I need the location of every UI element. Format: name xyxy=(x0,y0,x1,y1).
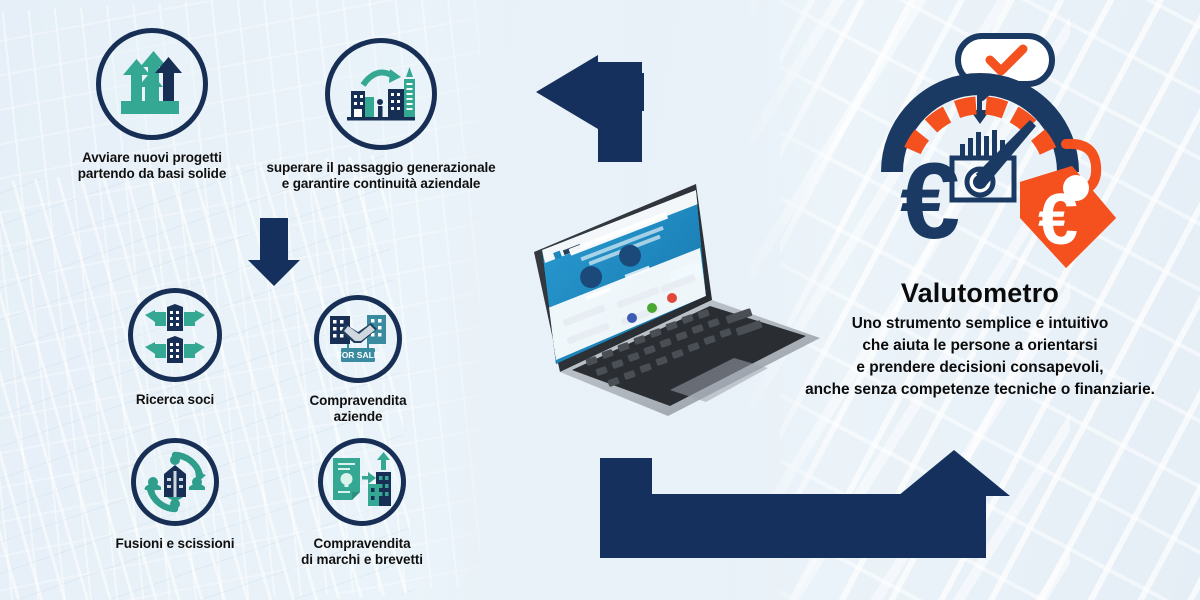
generational-handover-buildings-icon xyxy=(343,61,419,127)
node-caption: Compravendita di marchi e brevetti xyxy=(278,536,446,569)
node-caption: Avviare nuovi progetti partendo da basi … xyxy=(62,150,242,183)
icon-circle xyxy=(96,28,208,140)
connector-arrow-elbow-bottom xyxy=(600,448,1020,573)
icon-circle xyxy=(325,38,437,150)
node-avviare-progetti[interactable]: Avviare nuovi progetti partendo da basi … xyxy=(62,28,242,183)
valutometro-description: Uno strumento semplice e intuitivo che a… xyxy=(760,313,1200,401)
valutometro-hero-icon: € € xyxy=(860,22,1130,289)
patent-document-building-icon xyxy=(330,452,394,512)
infographic-canvas: Avviare nuovi progetti partendo da basi … xyxy=(0,0,1200,600)
node-compravendita-aziende[interactable]: FOR SALE Compravendita aziende xyxy=(278,295,438,426)
arrow-elbow-left-icon xyxy=(530,45,670,165)
node-caption: Ricerca soci xyxy=(95,392,255,408)
svg-text:FOR SALE: FOR SALE xyxy=(337,350,380,360)
node-passaggio-generazionale[interactable]: superare il passaggio generazionale e ga… xyxy=(256,38,506,193)
node-caption: superare il passaggio generazionale e ga… xyxy=(256,160,506,193)
valutometro-title: Valutometro xyxy=(760,278,1200,309)
icon-circle xyxy=(131,438,219,526)
handshake-for-sale-icon: FOR SALE xyxy=(327,310,389,368)
euro-symbol-tag: € xyxy=(1038,180,1078,260)
icon-circle: FOR SALE xyxy=(314,295,402,383)
icon-circle xyxy=(128,288,222,382)
node-caption: Fusioni e scissioni xyxy=(95,536,255,552)
icon-circle xyxy=(318,438,406,526)
node-fusioni-scissioni[interactable]: Fusioni e scissioni xyxy=(95,438,255,552)
arrow-elbow-up-icon xyxy=(600,448,1020,568)
arrow-down-icon xyxy=(236,218,312,290)
node-compravendita-marchi[interactable]: Compravendita di marchi e brevetti xyxy=(278,438,446,569)
connector-arrow-down-left xyxy=(236,218,312,295)
partner-search-buildings-icon xyxy=(143,304,207,366)
merger-split-cycle-icon xyxy=(142,449,208,515)
growth-arrows-icon xyxy=(115,49,189,119)
euro-symbol: € xyxy=(900,140,960,261)
node-ricerca-soci[interactable]: Ricerca soci xyxy=(95,288,255,408)
connector-arrow-elbow-top xyxy=(530,45,670,170)
node-caption: Compravendita aziende xyxy=(278,393,438,426)
valuation-gauge-euro-tag-icon: € € xyxy=(860,22,1130,284)
